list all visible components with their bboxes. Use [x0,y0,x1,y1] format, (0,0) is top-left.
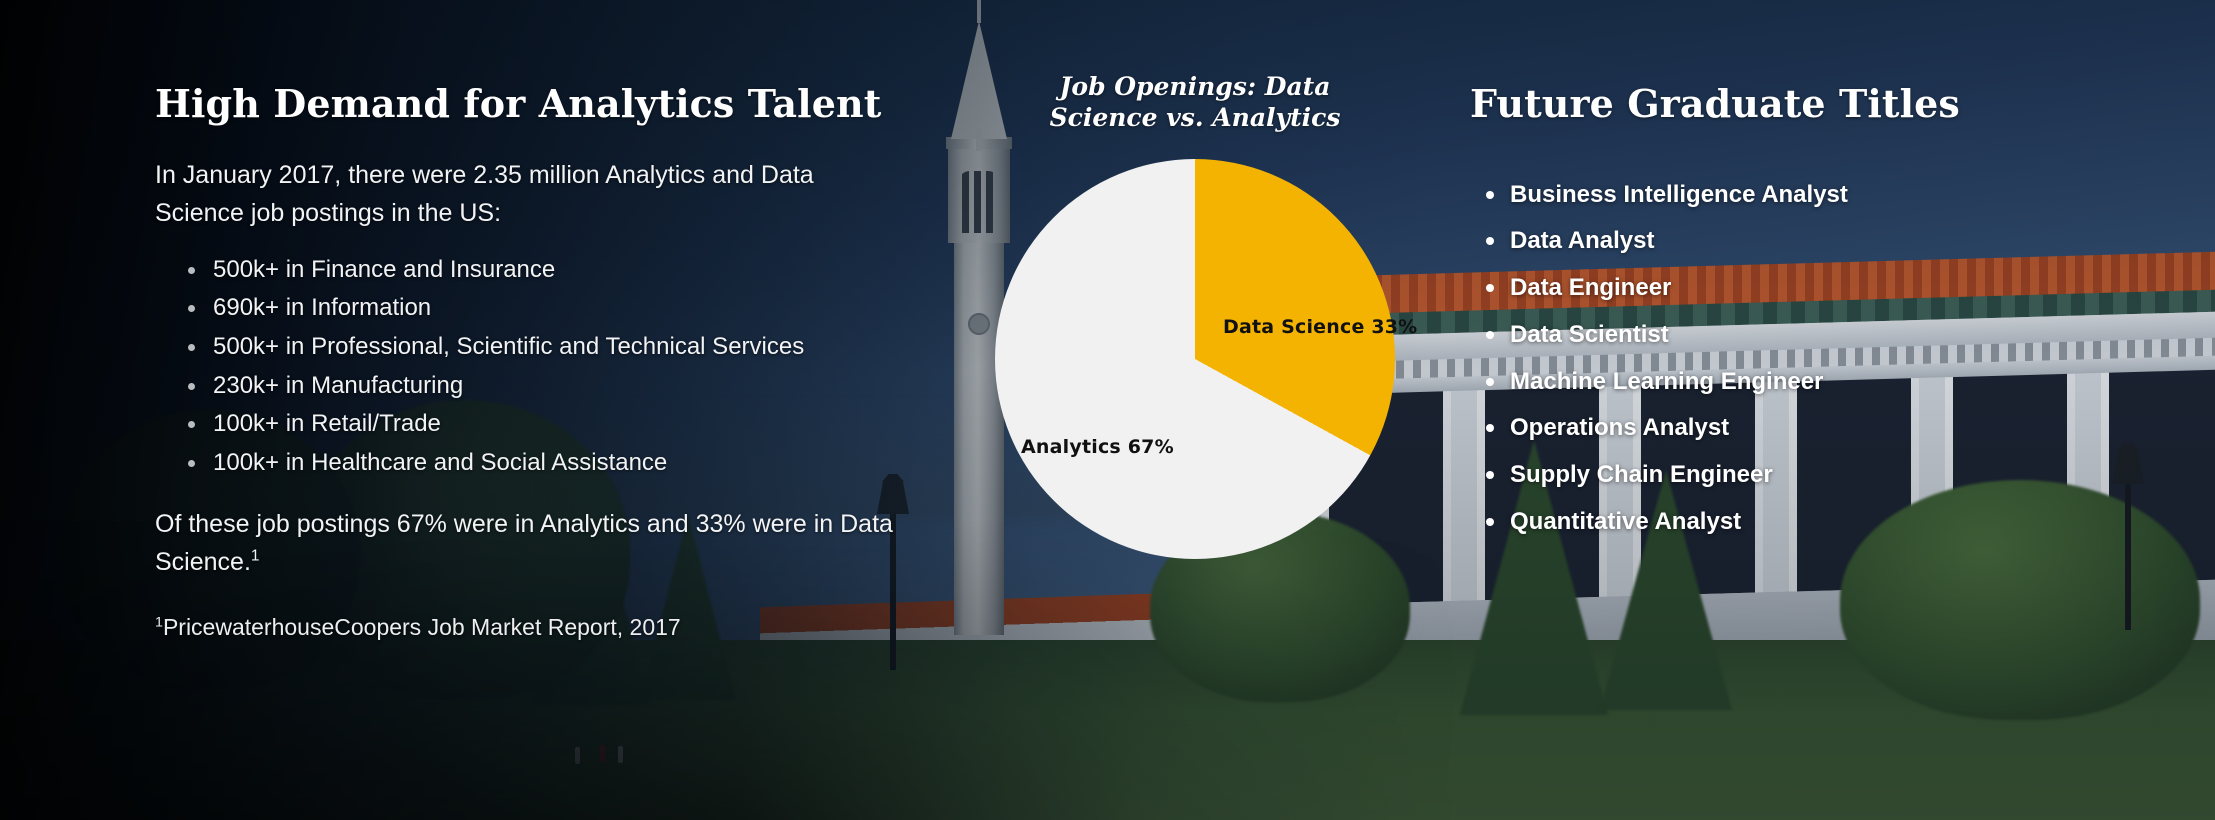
pie-label-analytics: Analytics 67% [1021,436,1174,458]
footnote-text: PricewaterhouseCoopers Job Market Report… [163,614,681,640]
future-titles-list: Business Intelligence Analyst Data Analy… [1470,180,2170,537]
pie-chart: Data Science 33% Analytics 67% [995,159,1395,559]
right-heading: Future Graduate Titles [1470,82,2170,126]
footnote-marker: 1 [155,614,163,630]
left-column: High Demand for Analytics Talent In Janu… [155,82,900,643]
list-item: 230k+ in Manufacturing [213,370,900,402]
right-column: Future Graduate Titles Business Intellig… [1470,82,2170,554]
industry-breakdown-list: 500k+ in Finance and Insurance 690k+ in … [155,254,900,479]
list-item: Quantitative Analyst [1510,507,2170,537]
chart-title: Job Openings: Data Science vs. Analytics [960,72,1430,133]
pie-label-data-science: Data Science 33% [1223,316,1417,338]
footnote-reference-marker: 1 [251,547,260,564]
chart-column: Job Openings: Data Science vs. Analytics… [960,72,1430,559]
list-item: 690k+ in Information [213,292,900,324]
list-item: Machine Learning Engineer [1510,367,2170,397]
list-item: Data Analyst [1510,226,2170,256]
list-item: Data Scientist [1510,320,2170,350]
list-item: Operations Analyst [1510,413,2170,443]
slide: High Demand for Analytics Talent In Janu… [0,0,2215,820]
list-item: 500k+ in Professional, Scientific and Te… [213,331,900,363]
list-item: Data Engineer [1510,273,2170,303]
list-item: 100k+ in Retail/Trade [213,408,900,440]
closing-text: Of these job postings 67% were in Analyt… [155,510,893,576]
slide-content: High Demand for Analytics Talent In Janu… [0,0,2215,820]
left-heading: High Demand for Analytics Talent [155,82,900,126]
pie-slices [995,159,1395,559]
list-item: Supply Chain Engineer [1510,460,2170,490]
list-item: 100k+ in Healthcare and Social Assistanc… [213,447,900,479]
left-intro-paragraph: In January 2017, there were 2.35 million… [155,156,900,232]
list-item: Business Intelligence Analyst [1510,180,2170,210]
left-closing-paragraph: Of these job postings 67% were in Analyt… [155,505,900,581]
list-item: 500k+ in Finance and Insurance [213,254,900,286]
footnote: 1PricewaterhouseCoopers Job Market Repor… [155,611,900,643]
